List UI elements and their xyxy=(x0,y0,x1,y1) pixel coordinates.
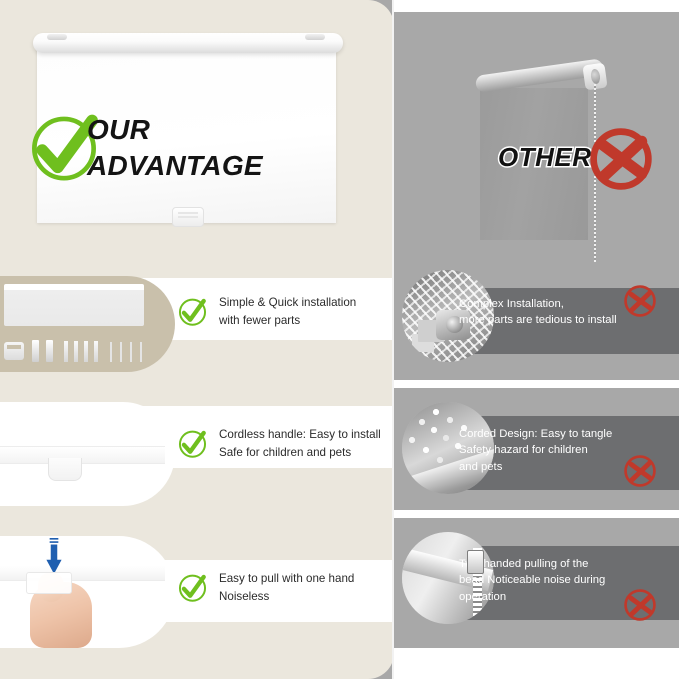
pin-part xyxy=(120,342,122,362)
anchor-part xyxy=(32,340,39,362)
hand-pulling-thumbnail xyxy=(0,536,175,648)
installation-parts-thumbnail xyxy=(0,276,175,372)
other-feature-row: Corded Design: Easy to tangle Safety haz… xyxy=(392,396,679,508)
bottom-rail xyxy=(0,446,165,464)
feature-text-line1: Corded Design: Easy to tangle xyxy=(459,426,659,442)
pin-part xyxy=(130,342,132,362)
our-advantage-title: OUR ADVANTAGE xyxy=(87,112,263,184)
feature-text-line1: Simple & Quick installation xyxy=(219,294,356,312)
title-line2: ADVANTAGE xyxy=(87,148,263,184)
our-advantage-panel: OUR ADVANTAGE xyxy=(0,0,394,679)
down-arrow-icon xyxy=(43,538,65,576)
green-check-icon xyxy=(176,427,209,460)
advantage-feature-row: Simple & Quick installation with fewer p… xyxy=(0,268,394,376)
other-badge: OTHER xyxy=(498,122,658,197)
feature-text-line1: Easy to pull with one hand xyxy=(219,570,354,588)
other-feature-row: Complex Installation, more parts are ted… xyxy=(392,268,679,378)
advantage-feature-row: Cordless handle: Easy to install Safe fo… xyxy=(0,396,394,508)
red-x-circle-icon xyxy=(584,122,658,196)
feature-text-line1: Cordless handle: Easy to install xyxy=(219,426,381,444)
mounting-bracket xyxy=(47,34,67,40)
rail-clip xyxy=(467,550,484,574)
parts-illustration xyxy=(4,338,154,364)
feature-item: Simple & Quick installation with fewer p… xyxy=(176,294,356,330)
anchor-part xyxy=(46,340,53,362)
our-advantage-badge: OUR ADVANTAGE xyxy=(25,108,315,198)
panel-strip xyxy=(392,510,679,518)
feature-item: Easy to pull with one hand Noiseless xyxy=(176,570,354,606)
other-feature-row: Two-handed pulling of the bead Noticeabl… xyxy=(392,526,679,646)
cordless-handle-thumbnail xyxy=(0,402,175,506)
feature-text-line2: with fewer parts xyxy=(219,312,356,330)
screw-part xyxy=(74,341,78,362)
feature-text: Cordless handle: Easy to install Safe fo… xyxy=(219,426,381,462)
red-x-icon xyxy=(621,586,659,624)
comparison-infographic: OTHER Complex Installation, more parts a… xyxy=(0,0,679,679)
green-check-icon xyxy=(176,571,209,604)
blind-fabric xyxy=(0,566,165,581)
blind-illustration xyxy=(4,284,144,326)
green-check-icon xyxy=(176,295,209,328)
feature-text: Easy to pull with one hand Noiseless xyxy=(219,570,354,606)
feature-text-line1: Two-handed pulling of the xyxy=(459,556,659,572)
screw-part xyxy=(94,341,98,362)
panel-strip xyxy=(392,380,679,388)
red-x-icon xyxy=(621,282,659,320)
screw-part xyxy=(64,341,68,362)
red-x-icon xyxy=(621,452,659,490)
cordless-handle xyxy=(48,458,82,481)
feature-text-line2: Safe for children and pets xyxy=(219,444,381,462)
other-label: OTHER xyxy=(498,142,592,173)
panel-strip xyxy=(392,648,679,679)
advantage-feature-row: Easy to pull with one hand Noiseless xyxy=(0,526,394,656)
blind-roller-tube xyxy=(33,33,343,53)
feature-text-line2: Noiseless xyxy=(219,588,354,606)
feature-text: Simple & Quick installation with fewer p… xyxy=(219,294,356,330)
handle-grip xyxy=(26,572,72,594)
pin-part xyxy=(140,342,142,362)
screw-part xyxy=(84,341,88,362)
pin-part xyxy=(110,342,112,362)
bracket-part xyxy=(4,342,24,360)
title-line1: OUR xyxy=(87,112,263,148)
feature-item: Cordless handle: Easy to install Safe fo… xyxy=(176,426,381,462)
mounting-bracket xyxy=(305,34,325,40)
cordless-handle xyxy=(172,207,204,227)
panel-strip xyxy=(392,0,679,12)
panel-divider xyxy=(392,0,394,679)
